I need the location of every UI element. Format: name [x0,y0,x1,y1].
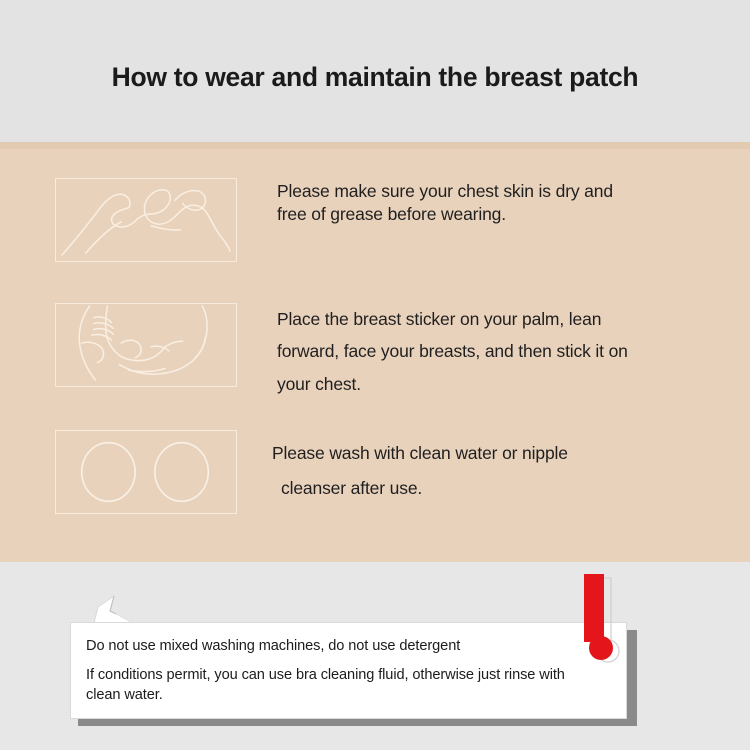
page-title: How to wear and maintain the breast patc… [0,62,750,93]
callout-line-2: If conditions permit, you can use bra cl… [86,665,586,705]
two-hands-peeling-patch-illustration [55,178,237,262]
instruction-infographic-page: How to wear and maintain the breast patc… [0,0,750,750]
step-text-line: forward, face your breasts, and then sti… [277,335,727,367]
hand-applying-patch-to-chest-illustration [55,303,237,387]
callout-line-1: Do not use mixed washing machines, do no… [86,638,586,654]
step-text-line: your chest. [277,368,727,400]
instructions-band: Please make sure your chest skin is dry … [0,142,750,562]
step-item: Please make sure your chest skin is dry … [0,170,750,270]
step-text-line: Please wash with clean water or nipple [272,436,722,471]
step-text-line: Please make sure your chest skin is dry … [277,180,727,203]
two-breast-patches-illustration [55,430,237,514]
header-band: How to wear and maintain the breast patc… [0,0,750,142]
exclamation-mark-icon [575,572,631,666]
step-text: Place the breast sticker on your palm, l… [277,303,727,400]
step-text-line: cleanser after use. [272,471,722,506]
step-text: Please make sure your chest skin is dry … [277,180,727,227]
step-item: Please wash with clean water or nipple c… [0,422,750,522]
step-text: Please wash with clean water or nipple c… [272,436,722,506]
step-text-line: Place the breast sticker on your palm, l… [277,303,727,335]
callout-tail-icon [92,595,134,624]
step-text-line: free of grease before wearing. [277,203,727,226]
warning-callout: Do not use mixed washing machines, do no… [0,562,750,750]
callout-text: Do not use mixed washing machines, do no… [86,638,586,705]
step-item: Place the breast sticker on your palm, l… [0,295,750,405]
steps-list: Please make sure your chest skin is dry … [0,142,750,562]
